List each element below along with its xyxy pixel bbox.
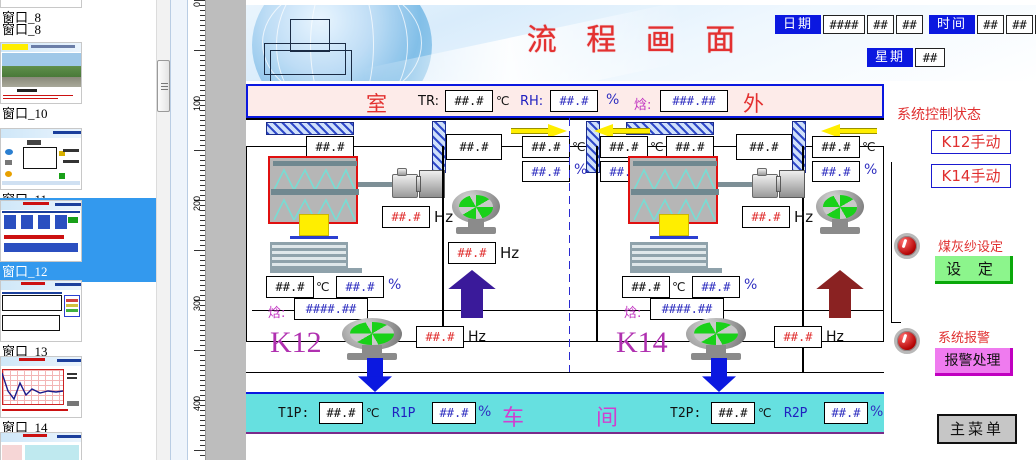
- k12-outlet-rh-unit: %: [388, 277, 401, 293]
- k12-airflow-arrow: [448, 270, 496, 318]
- r1p-field[interactable]: ##.#: [432, 402, 476, 424]
- k14-valve-actuator[interactable]: [659, 214, 689, 236]
- ruler-tick: [200, 255, 205, 256]
- ruler-tick: [200, 160, 205, 161]
- t1p-unit: ℃: [366, 406, 379, 420]
- ruler-label-0: 0: [192, 2, 202, 7]
- ambient-conditions-bar: 室 TR: ##.# ℃ RH: ##.# % 焓: ###.## 外: [246, 84, 884, 118]
- k14-pump-hz-field[interactable]: ##.#: [742, 206, 790, 228]
- ruler-tick: [194, 0, 205, 1]
- ruler-tick: [200, 20, 205, 21]
- k12-outlet-temp-field[interactable]: ##.#: [266, 276, 314, 298]
- page-banner: 流 程 画 面 日期 #### ## ## 时间 ## ## ## 星期 ##: [246, 5, 1036, 81]
- k14-heat-exchanger: [630, 242, 708, 268]
- set-button[interactable]: 设 定: [935, 256, 1013, 284]
- main-menu-button[interactable]: 主菜单: [937, 414, 1017, 444]
- k12-return-rh-field[interactable]: ##.#: [522, 161, 570, 182]
- time-hour-field[interactable]: ##: [977, 15, 1004, 34]
- ruler-tick: [200, 120, 205, 121]
- list-item[interactable]: [0, 432, 156, 460]
- list-item-label: 窗口_8: [0, 20, 156, 40]
- ruler-tick: [200, 140, 205, 141]
- ruler-tick: [200, 340, 205, 341]
- k14-zigzag-top: [634, 168, 716, 190]
- date-year-field[interactable]: ####: [823, 15, 865, 34]
- ruler-tick: [200, 275, 205, 276]
- k14-outlet-rh-unit: %: [744, 277, 757, 293]
- k12-outlet-temp-unit: ℃: [316, 280, 329, 294]
- k14-supply-down-arrow: [702, 358, 736, 392]
- k12-main-fan-hz-unit: Hz: [468, 329, 486, 345]
- workshop-word-right: 间: [596, 400, 618, 432]
- k12-pump-hz-field[interactable]: ##.#: [382, 206, 430, 228]
- ruler-tick: [200, 445, 205, 446]
- ruler-tick: [194, 250, 205, 251]
- editor-gutter: [170, 0, 188, 460]
- ruler-tick: [200, 185, 205, 186]
- ruler-tick: [200, 190, 205, 191]
- r2p-unit: %: [870, 404, 883, 420]
- ruler-tick: [200, 165, 205, 166]
- t1p-label: T1P:: [278, 406, 309, 421]
- ruler-tick: [200, 375, 205, 376]
- ruler-tick: [200, 65, 205, 66]
- ruler-tick: [200, 380, 205, 381]
- ruler-tick: [200, 135, 205, 136]
- time-minute-field[interactable]: ##: [1006, 15, 1033, 34]
- ruler-tick: [194, 50, 205, 51]
- ruler-tick: [200, 130, 205, 131]
- unit-name-k12: K12: [270, 326, 322, 360]
- ruler-tick: [200, 390, 205, 391]
- process-diagram: ##.# ##.# ##.# ℃ ##.# % ##.# ℃ ##.# %: [246, 118, 884, 378]
- k12-outlet-rh-field[interactable]: ##.#: [336, 276, 384, 298]
- k14-outlet-temp-unit: ℃: [672, 280, 685, 294]
- rh-unit: %: [606, 92, 619, 108]
- r1p-unit: %: [478, 404, 491, 420]
- ruler-tick: [200, 70, 205, 71]
- enthalpy-label: 焓:: [634, 94, 651, 113]
- alarm-status-lamp: [894, 328, 920, 354]
- ruler-tick: [200, 385, 205, 386]
- list-item[interactable]: 窗口_14: [0, 356, 156, 438]
- workshop-word-left: 车: [502, 400, 524, 432]
- thumbnail-preview: [0, 0, 82, 8]
- ruler-tick: [200, 35, 205, 36]
- r2p-label: R2P: [784, 406, 807, 421]
- thumbnail-preview: [0, 356, 82, 418]
- thumbnail-preview: [0, 42, 82, 104]
- k14-pump-hz-unit: Hz: [794, 208, 813, 226]
- k14-airflow-arrow: [816, 270, 864, 318]
- ruler-tick: [200, 215, 205, 216]
- k14-return-rh-field[interactable]: ##.#: [812, 161, 860, 182]
- k12-outlet-enthalpy-label: 焓:: [268, 302, 285, 321]
- app-root: 窗口_8 窗口_8 窗口_10: [0, 0, 1036, 460]
- k12-return-rh-unit: %: [574, 162, 587, 178]
- ruler-tick: [200, 425, 205, 426]
- hmi-canvas: 流 程 画 面 日期 #### ## ## 时间 ## ## ## 星期 ## …: [246, 0, 1036, 460]
- ruler-tick: [200, 225, 205, 226]
- k12-zigzag-top: [274, 168, 356, 190]
- k12-mix-temp-field[interactable]: ##.#: [446, 134, 502, 160]
- vertical-ruler: 0 100 200 300 400: [188, 0, 206, 460]
- ruler-label-400: 400: [192, 396, 202, 411]
- k12-return-temp-field[interactable]: ##.#: [522, 136, 570, 158]
- ruler-tick: [200, 75, 205, 76]
- ruler-tick: [200, 360, 205, 361]
- list-item[interactable]: 窗口_10: [0, 42, 156, 124]
- room-humidity-field[interactable]: ##.#: [550, 90, 598, 112]
- ruler-tick: [200, 170, 205, 171]
- ruler-tick: [200, 90, 205, 91]
- k14-outlet-temp-field[interactable]: ##.#: [622, 276, 670, 298]
- k12-fan-hz-unit: Hz: [500, 244, 519, 262]
- t2p-field[interactable]: ##.#: [711, 402, 755, 424]
- ruler-tick: [200, 325, 205, 326]
- ruler-tick: [200, 155, 205, 156]
- ruler-tick: [200, 260, 205, 261]
- k14-return-rh-unit: %: [864, 162, 877, 178]
- k12-fan-hz-field[interactable]: ##.#: [448, 242, 496, 264]
- k12-mode-indicator: K12手动: [931, 130, 1011, 154]
- ruler-tick: [200, 280, 205, 281]
- k14-return-temp-unit: ℃: [862, 140, 875, 154]
- k12-main-fan: [342, 318, 402, 362]
- ruler-tick: [200, 40, 205, 41]
- ruler-tick: [200, 115, 205, 116]
- ruler-tick: [200, 125, 205, 126]
- thumbnail-preview: [0, 432, 82, 460]
- k14-mode-indicator: K14手动: [931, 164, 1011, 188]
- ruler-tick: [200, 430, 205, 431]
- ruler-tick: [200, 240, 205, 241]
- ruler-tick: [200, 335, 205, 336]
- k12-main-fan-hz-field[interactable]: ##.#: [416, 326, 464, 348]
- mini-trend-line: [2, 369, 64, 405]
- list-item[interactable]: 窗口_13: [0, 280, 156, 362]
- k14-mix-temp-field[interactable]: ##.#: [736, 134, 792, 160]
- ruler-tick: [200, 45, 205, 46]
- ruler-tick: [200, 30, 205, 31]
- thumbnail-preview: [0, 200, 82, 262]
- set-status-lamp: [894, 233, 920, 259]
- tr-label: TR:: [418, 94, 439, 109]
- ruler-tick: [200, 10, 205, 11]
- ruler-tick: [200, 85, 205, 86]
- ruler-tick: [200, 220, 205, 221]
- k12-exhaust-temp-field[interactable]: ##.#: [600, 136, 648, 158]
- ruler-tick: [200, 55, 205, 56]
- ruler-tick: [200, 420, 205, 421]
- k12-exhaust-temp-unit: ℃: [650, 140, 663, 154]
- workshop-conditions-bar: T1P: ##.# ℃ R1P ##.# % 车 间 T2P: ##.# ℃ R…: [246, 392, 884, 434]
- k14-pump-motor: [752, 166, 812, 204]
- ruler-tick: [200, 245, 205, 246]
- ruler-tick: [200, 355, 205, 356]
- k14-exhaust-fan: [816, 190, 864, 236]
- thumbnail-preview: [0, 128, 82, 190]
- ruler-tick: [200, 80, 205, 81]
- alarm-title: 系统报警: [938, 327, 990, 346]
- k14-main-fan-hz-field[interactable]: ##.#: [774, 326, 822, 348]
- list-item[interactable]: 窗口_12: [0, 200, 156, 282]
- vertical-scrollbar-thumb[interactable]: [157, 60, 170, 112]
- date-day-field[interactable]: ##: [896, 15, 923, 34]
- ruler-tick: [200, 265, 205, 266]
- k14-outlet-enthalpy-label: 焓:: [624, 302, 641, 321]
- tr-unit: ℃: [496, 94, 509, 108]
- ruler-tick: [200, 320, 205, 321]
- ruler-tick: [200, 435, 205, 436]
- k12-supply-temp-field[interactable]: ##.#: [306, 136, 354, 158]
- k14-outlet-rh-field[interactable]: ##.#: [692, 276, 740, 298]
- k14-supply-temp-field[interactable]: ##.#: [666, 136, 714, 158]
- ruler-tick: [194, 350, 205, 351]
- weekday-label: 星期: [867, 48, 913, 67]
- ruler-tick: [194, 450, 205, 451]
- ruler-tick: [200, 455, 205, 456]
- t1p-field[interactable]: ##.#: [319, 402, 363, 424]
- k14-main-fan: [686, 318, 746, 362]
- alarm-handle-button[interactable]: 报警处理: [935, 348, 1013, 376]
- k14-main-fan-hz-unit: Hz: [826, 329, 844, 345]
- ruler-tick: [194, 150, 205, 151]
- ruler-label-200: 200: [192, 196, 202, 211]
- ruler-label-300: 300: [192, 296, 202, 311]
- ruler-tick: [200, 345, 205, 346]
- ruler-tick: [200, 60, 205, 61]
- banner-box-3: [270, 50, 352, 81]
- list-item-label: 窗口_10: [0, 104, 156, 124]
- time-label: 时间: [929, 15, 975, 34]
- list-item[interactable]: 窗口_8: [0, 20, 156, 40]
- ruler-label-100: 100: [192, 96, 202, 111]
- control-panel: 系统控制状态 K12手动 K14手动 煤灰纱设定 设 定 系统报警 报警处理 主…: [891, 90, 1036, 460]
- set-title: 煤灰纱设定: [938, 236, 1003, 255]
- k12-supply-down-arrow: [358, 358, 392, 392]
- ruler-tick: [200, 370, 205, 371]
- ruler-tick: [200, 285, 205, 286]
- date-label: 日期: [775, 15, 821, 34]
- k12-heat-exchanger: [270, 242, 348, 268]
- room-temperature-field[interactable]: ##.#: [445, 90, 493, 112]
- k12-outlet-enthalpy-field[interactable]: ####.##: [294, 298, 368, 320]
- ruler-tick: [200, 330, 205, 331]
- ruler-tick: [200, 290, 205, 291]
- k12-return-temp-unit: ℃: [572, 140, 585, 154]
- ruler-tick: [200, 15, 205, 16]
- system-status-title: 系统控制状态: [897, 104, 981, 124]
- rh-label: RH:: [520, 94, 543, 109]
- ruler-tick: [200, 440, 205, 441]
- k12-exhaust-fan: [452, 190, 500, 236]
- ruler-tick: [200, 180, 205, 181]
- ruler-tick: [200, 365, 205, 366]
- k12-valve-actuator[interactable]: [299, 214, 329, 236]
- k14-outlet-enthalpy-field[interactable]: ####.##: [650, 298, 724, 320]
- k14-return-temp-field[interactable]: ##.#: [812, 136, 860, 158]
- ruler-tick: [200, 315, 205, 316]
- thumbnail-sidebar[interactable]: 窗口_8 窗口_8 窗口_10: [0, 0, 156, 460]
- t2p-unit: ℃: [758, 406, 771, 420]
- list-item-label: 窗口_12: [0, 262, 156, 282]
- unit-name-k14: K14: [616, 326, 668, 360]
- room-label: 室: [366, 88, 387, 118]
- weekday-field[interactable]: ##: [915, 48, 945, 67]
- thumbnail-preview: [0, 280, 82, 342]
- ruler-tick: [200, 415, 205, 416]
- date-month-field[interactable]: ##: [867, 15, 894, 34]
- r1p-label: R1P: [392, 406, 415, 421]
- ruler-tick: [200, 25, 205, 26]
- ruler-tick: [200, 175, 205, 176]
- r2p-field[interactable]: ##.#: [824, 402, 868, 424]
- t2p-label: T2P:: [670, 406, 701, 421]
- ruler-tick: [200, 235, 205, 236]
- page-title: 流 程 画 面: [511, 15, 761, 59]
- duct-supply-k12: [266, 122, 354, 135]
- ruler-tick: [200, 270, 205, 271]
- ruler-tick: [200, 145, 205, 146]
- room-enthalpy-field[interactable]: ###.##: [660, 90, 728, 112]
- outside-label: 外: [743, 88, 764, 118]
- ruler-tick: [200, 230, 205, 231]
